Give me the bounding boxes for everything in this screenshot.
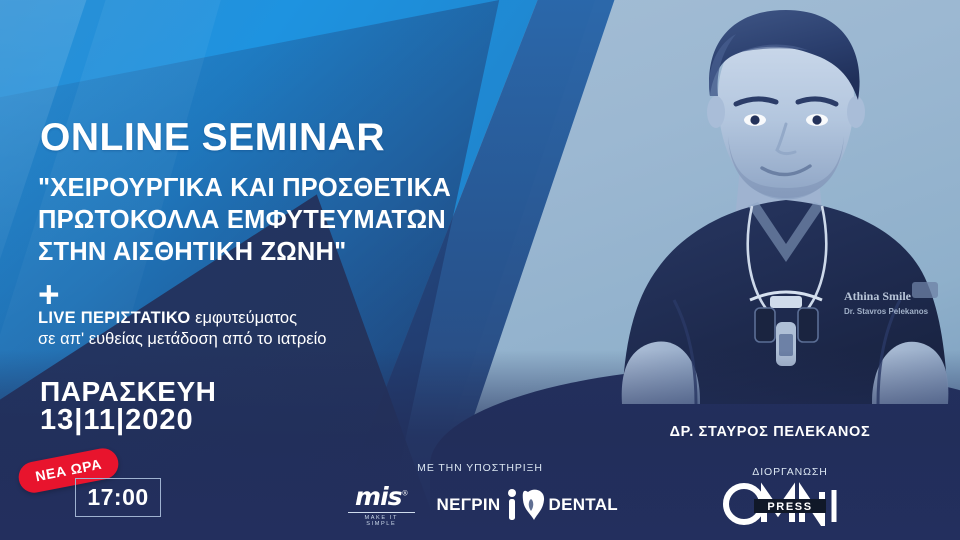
speaker-portrait-image: Athina Smile Dr. Stavros Pelekanos: [600, 0, 960, 410]
negrin-dental-logo: ΝΕΓΡΙΝ DENTAL: [437, 488, 618, 522]
event-time: 17:00: [87, 484, 148, 511]
in-tooth-glyph: [504, 488, 546, 522]
live-case-line: LIVE ΠΕΡΙΣΤΑΤΙΚΟ εμφυτεύματος σε απ' ευθ…: [38, 308, 326, 350]
mis-tagline: MAKE IT SIMPLE: [348, 515, 415, 527]
live-case-subline: σε απ' ευθείας μετάδοση από το ιατρείο: [38, 329, 326, 350]
mis-divider: [348, 512, 415, 513]
dental-word-text: DENTAL: [549, 495, 618, 514]
event-time-box: 17:00: [75, 478, 161, 517]
live-case-suffix: εμφυτεύματος: [191, 309, 298, 327]
support-heading: ΜΕ ΤΗΝ ΥΠΟΣΤΗΡΙΞΗ: [380, 462, 580, 474]
organizer-heading: ΔΙΟΡΓΑΝΩΣΗ: [710, 466, 870, 478]
live-case-label: LIVE ΠΕΡΙΣΤΑΤΙΚΟ: [38, 309, 191, 327]
speaker-name: ΔΡ. ΣΤΑΥΡΟΣ ΠΕΛΕΚΑΝΟΣ: [620, 424, 920, 440]
dental-word: DENTAL: [549, 495, 618, 515]
negrin-word: ΝΕΓΡΙΝ: [437, 495, 501, 515]
page-title: ONLINE SEMINAR: [40, 118, 385, 157]
seminar-poster: Athina Smile Dr. Stavros Pelekanos ONLIN…: [0, 0, 960, 540]
in-tooth-icon: [504, 488, 546, 522]
omni-press-badge-text: PRESS: [767, 501, 812, 513]
omni-press-logo: PRESS: [722, 482, 862, 526]
event-date: 13|11|2020: [40, 404, 194, 437]
seminar-subtitle: "ΧΕΙΡΟΥΡΓΙΚΑ ΚΑΙ ΠΡΟΣΘΕΤΙΚΑ ΠΡΩΤΟΚΟΛΛΑ Ε…: [38, 172, 508, 268]
scrub-embroidery-line2: Dr. Stavros Pelekanos: [844, 307, 929, 316]
mis-wordmark: mis®: [355, 484, 408, 509]
omni-press-glyph: PRESS: [722, 482, 862, 526]
negrin-word-text: ΝΕΓΡΙΝ: [437, 495, 501, 514]
scrub-embroidery-line1: Athina Smile: [844, 289, 912, 303]
mis-logo: mis® MAKE IT SIMPLE: [348, 484, 415, 527]
mis-trademark: ®: [402, 489, 408, 497]
support-logo-row: mis® MAKE IT SIMPLE ΝΕΓΡΙΝ DENTAL: [348, 482, 618, 528]
mis-wordmark-text: mis: [355, 482, 402, 511]
speaker-portrait: Athina Smile Dr. Stavros Pelekanos: [600, 0, 960, 410]
